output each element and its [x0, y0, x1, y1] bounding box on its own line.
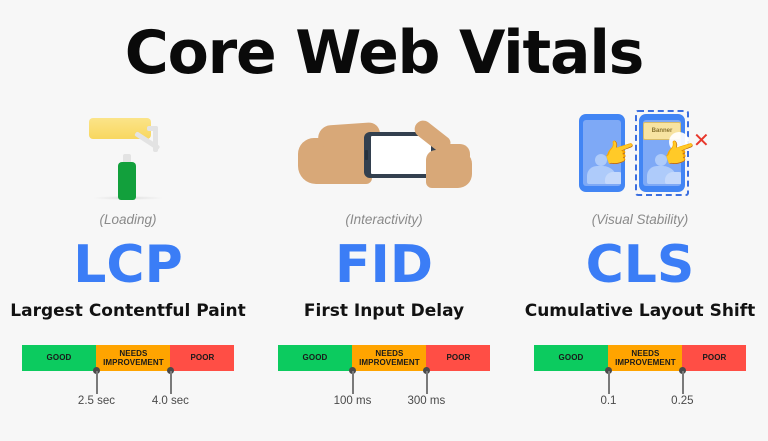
lcp-bar: GOOD NEEDS IMPROVEMENT POOR: [22, 345, 235, 371]
lcp-aspect-label: (Loading): [99, 212, 156, 227]
paint-roller-icon: [85, 110, 171, 200]
phone-screen: [371, 136, 431, 174]
lcp-needs-line1: NEEDS: [119, 349, 147, 358]
cls-segment-needs-improvement: NEEDS IMPROVEMENT: [608, 345, 682, 371]
lcp-threshold-poor-min: 4.0 sec: [152, 395, 189, 407]
lcp-threshold-good-max: 2.5 sec: [78, 395, 115, 407]
fid-acronym: FID: [335, 239, 433, 291]
cls-segment-good: GOOD: [534, 345, 609, 371]
lcp-marker-line-2: [170, 371, 171, 394]
fid-threshold-poor-min: 300 ms: [408, 395, 446, 407]
pointing-hand-icon-left: 👉: [600, 135, 640, 171]
lcp-segment-poor: POOR: [170, 345, 234, 371]
hands-tapping-phone-icon: [296, 116, 472, 200]
cls-threshold-good-max: 0.1: [600, 395, 616, 407]
metric-column-fid: (Interactivity) FID First Input Delay: [256, 104, 512, 321]
lcp-segment-good: GOOD: [22, 345, 97, 371]
metric-column-cls: Banner 👉 👉 ✕ (Visual Stability) CLS Cumu…: [512, 104, 768, 321]
core-web-vitals-infographic: Core Web Vitals (Loading) LCP Largest Co…: [0, 0, 768, 441]
cls-fullname: Cumulative Layout Shift: [525, 301, 756, 321]
cls-marker-line-2: [682, 371, 683, 394]
fid-bar: GOOD NEEDS IMPROVEMENT POOR: [278, 345, 491, 371]
fid-fullname: First Input Delay: [304, 301, 464, 321]
fid-markers: 100 ms 300 ms: [278, 371, 491, 415]
fid-icon-area: [284, 104, 484, 200]
lcp-needs-line2: IMPROVEMENT: [103, 358, 164, 367]
phone-side-button: [365, 150, 368, 160]
cls-threshold-poor-min: 0.25: [671, 395, 693, 407]
lcp-acronym: LCP: [73, 239, 182, 291]
threshold-bar-cls: GOOD NEEDS IMPROVEMENT POOR 0.1: [512, 345, 768, 415]
cls-bar: GOOD NEEDS IMPROVEMENT POOR: [534, 345, 747, 371]
cls-icon-area: Banner 👉 👉 ✕: [540, 104, 740, 200]
fid-aspect-label: (Interactivity): [345, 212, 422, 227]
cls-needs-line1: NEEDS: [631, 349, 659, 358]
fid-needs-line2: IMPROVEMENT: [359, 358, 420, 367]
cls-segment-poor: POOR: [682, 345, 746, 371]
layout-shift-phones-icon: Banner 👉 👉 ✕: [565, 106, 715, 200]
cls-acronym: CLS: [586, 239, 695, 291]
fid-marker-line-1: [352, 371, 353, 394]
lcp-marker-line-1: [96, 371, 97, 394]
lcp-segment-needs-improvement: NEEDS IMPROVEMENT: [96, 345, 170, 371]
error-x-icon: ✕: [693, 128, 710, 152]
lcp-icon-area: [28, 104, 228, 200]
threshold-bars: GOOD NEEDS IMPROVEMENT POOR 2.5 sec: [0, 345, 768, 415]
metric-column-lcp: (Loading) LCP Largest Contentful Paint: [0, 104, 256, 321]
metrics-columns: (Loading) LCP Largest Contentful Paint: [0, 104, 768, 321]
fid-marker-line-2: [426, 371, 427, 394]
cls-needs-line2: IMPROVEMENT: [615, 358, 676, 367]
fid-threshold-good-max: 100 ms: [334, 395, 372, 407]
lcp-markers: 2.5 sec 4.0 sec: [22, 371, 235, 415]
fid-needs-line1: NEEDS: [375, 349, 403, 358]
cls-markers: 0.1 0.25: [534, 371, 747, 415]
roller-grip: [118, 162, 136, 200]
page-title: Core Web Vitals: [0, 18, 768, 88]
cls-marker-line-1: [608, 371, 609, 394]
lcp-fullname: Largest Contentful Paint: [10, 301, 245, 321]
threshold-bar-lcp: GOOD NEEDS IMPROVEMENT POOR 2.5 sec: [0, 345, 256, 415]
fid-segment-needs-improvement: NEEDS IMPROVEMENT: [352, 345, 426, 371]
cls-aspect-label: (Visual Stability): [592, 212, 689, 227]
photo-placeholder-body-2: [605, 172, 621, 184]
fid-segment-poor: POOR: [426, 345, 490, 371]
threshold-bar-fid: GOOD NEEDS IMPROVEMENT POOR 100 ms: [256, 345, 512, 415]
fid-segment-good: GOOD: [278, 345, 353, 371]
